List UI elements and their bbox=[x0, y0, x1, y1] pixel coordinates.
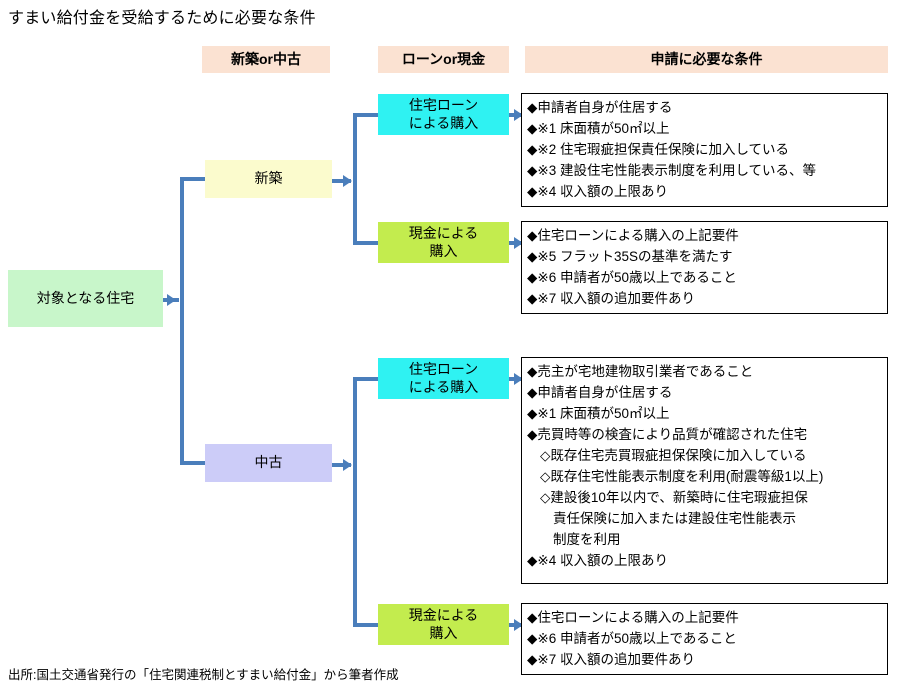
conditions-box-used-loan: ◆売主が宅地建物取引業者であること ◆申請者自身が住居する ◆※1 床面積が50… bbox=[521, 357, 888, 584]
source-note: 出所:国土交通省発行の「住宅関連税制とすまい給付金」から筆者作成 bbox=[8, 664, 399, 683]
connector-trunk-to-used bbox=[180, 461, 206, 465]
condition-line: 責任保険に加入または建設住宅性能表示 bbox=[527, 508, 883, 529]
connector-branch2-to-loan bbox=[353, 377, 380, 381]
node-used-home[interactable]: 中古 bbox=[205, 444, 332, 482]
column-header-new-or-used: 新築or中古 bbox=[202, 46, 330, 73]
condition-line: ◇建設後10年以内で、新築時に住宅瑕疵担保 bbox=[527, 487, 883, 508]
node-target-housing[interactable]: 対象となる住宅 bbox=[8, 270, 163, 327]
diagram-canvas: すまい給付金を受給するために必要な条件 新築or中古 ローンor現金 申請に必要… bbox=[0, 0, 899, 687]
condition-line: ◆※3 建設住宅性能表示制度を利用している、等 bbox=[527, 160, 883, 181]
node-used-cash-purchase[interactable]: 現金による 購入 bbox=[378, 604, 509, 645]
condition-line: ◆住宅ローンによる購入の上記要件 bbox=[527, 607, 883, 628]
condition-line: ◆売主が宅地建物取引業者であること bbox=[527, 361, 883, 382]
conditions-box-new-cash: ◆住宅ローンによる購入の上記要件 ◆※5 フラット35Sの基準を満たす ◆※6 … bbox=[521, 221, 888, 314]
node-new-loan-purchase[interactable]: 住宅ローン による購入 bbox=[378, 94, 509, 135]
connector-branch2-vertical bbox=[353, 377, 357, 627]
column-header-loan-or-cash: ローンor現金 bbox=[378, 46, 509, 73]
condition-line: ◆申請者自身が住居する bbox=[527, 97, 883, 118]
connector-branch1-to-cash bbox=[353, 241, 380, 245]
condition-line: ◆住宅ローンによる購入の上記要件 bbox=[527, 225, 883, 246]
connector-trunk-to-new bbox=[180, 177, 206, 181]
condition-line: ◆※1 床面積が50㎡以上 bbox=[527, 403, 883, 424]
conditions-box-new-loan: ◆申請者自身が住居する ◆※1 床面積が50㎡以上 ◆※2 住宅瑕疵担保責任保険… bbox=[521, 93, 888, 207]
condition-line: ◆※4 収入額の上限あり bbox=[527, 181, 883, 202]
condition-line: ◆※7 収入額の追加要件あり bbox=[527, 649, 883, 670]
page-title: すまい給付金を受給するために必要な条件 bbox=[8, 4, 316, 28]
condition-line: ◆売買時等の検査により品質が確認された住宅 bbox=[527, 424, 883, 445]
condition-line: ◆※5 フラット35Sの基準を満たす bbox=[527, 246, 883, 267]
node-new-construction[interactable]: 新築 bbox=[205, 160, 332, 198]
connector-branch2-to-cash bbox=[353, 623, 380, 627]
conditions-box-used-cash: ◆住宅ローンによる購入の上記要件 ◆※6 申請者が50歳以上であること ◆※7 … bbox=[521, 603, 888, 675]
condition-line: ◆※6 申請者が50歳以上であること bbox=[527, 628, 883, 649]
condition-line: ◇既存住宅売買瑕疵担保保険に加入している bbox=[527, 445, 883, 466]
condition-line: ◆※1 床面積が50㎡以上 bbox=[527, 118, 883, 139]
connector-branch1-vertical bbox=[353, 113, 357, 245]
connector-branch1-to-loan bbox=[353, 113, 380, 117]
condition-line: ◆※4 収入額の上限あり bbox=[527, 550, 883, 571]
node-used-loan-purchase[interactable]: 住宅ローン による購入 bbox=[378, 358, 509, 399]
arrow-used-to-branch bbox=[343, 459, 352, 471]
condition-line: ◆申請者自身が住居する bbox=[527, 382, 883, 403]
connector-trunk-vertical bbox=[180, 177, 184, 465]
condition-line: ◆※7 収入額の追加要件あり bbox=[527, 288, 883, 309]
condition-line: ◇既存住宅性能表示制度を利用(耐震等級1以上) bbox=[527, 466, 883, 487]
condition-line: ◆※6 申請者が50歳以上であること bbox=[527, 267, 883, 288]
condition-line: 制度を利用 bbox=[527, 529, 883, 550]
arrow-new-to-branch bbox=[343, 175, 352, 187]
column-header-required-conditions: 申請に必要な条件 bbox=[525, 46, 888, 73]
condition-line: ◆※2 住宅瑕疵担保責任保険に加入している bbox=[527, 139, 883, 160]
node-new-cash-purchase[interactable]: 現金による 購入 bbox=[378, 222, 509, 263]
arrow-root-to-trunk bbox=[167, 294, 176, 306]
